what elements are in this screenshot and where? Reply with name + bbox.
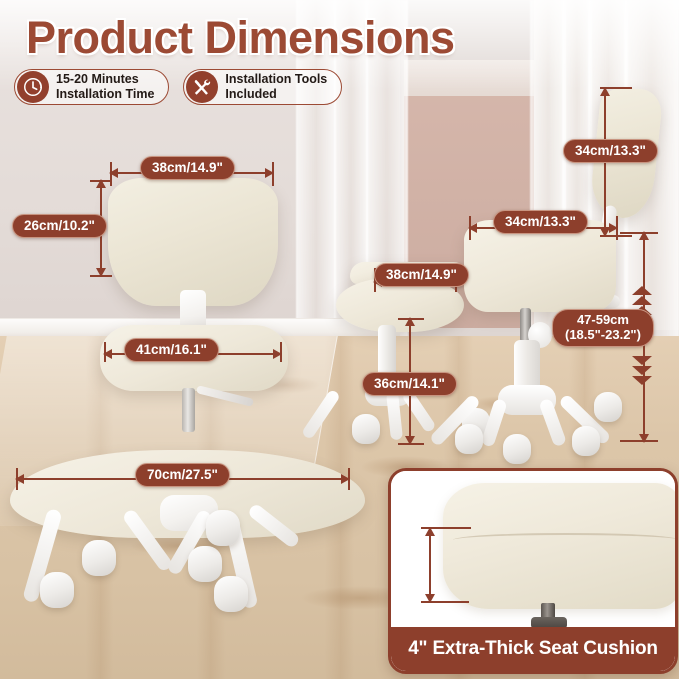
dim-label-backrest-height: 26cm/10.2" bbox=[12, 214, 107, 238]
dim-label-height-range: 47-59cm (18.5"-23.2") bbox=[552, 309, 654, 347]
badge-installation-tools-text: Installation Tools Included bbox=[225, 72, 327, 103]
chevron-down-icon bbox=[632, 356, 652, 365]
caster-wheel-bottom bbox=[214, 576, 248, 612]
badge-installation-time-text: 15-20 Minutes Installation Time bbox=[56, 72, 154, 103]
caster-wheel-bottom bbox=[206, 510, 240, 546]
caster-wheel-bottom bbox=[82, 540, 116, 576]
dim-label-seat-width-mid: 38cm/14.9" bbox=[374, 263, 469, 287]
backrest-cushion bbox=[108, 178, 278, 306]
dim-label-backrest-width: 38cm/14.9" bbox=[140, 156, 235, 180]
product-dimensions-infographic: Product Dimensions 15-20 Minutes Install… bbox=[0, 0, 679, 679]
dim-label-seat-depth: 41cm/16.1" bbox=[124, 338, 219, 362]
inset-cushion-seam bbox=[453, 533, 675, 547]
badge-installation-tools: Installation Tools Included bbox=[183, 69, 342, 105]
page-title: Product Dimensions bbox=[26, 12, 455, 64]
dim-line-cushion-thickness bbox=[429, 528, 431, 602]
chevron-down-icon bbox=[632, 376, 652, 385]
inset-photo bbox=[391, 471, 675, 627]
stool-caster bbox=[352, 414, 380, 444]
caster-wheel-bottom bbox=[40, 572, 74, 608]
dim-label-seat-width-right: 34cm/13.3" bbox=[493, 210, 588, 234]
inset-caption: 4" Extra-Thick Seat Cushion bbox=[391, 627, 675, 671]
gas-lift-cylinder bbox=[182, 388, 195, 432]
dim-label-seat-height-low: 36cm/14.1" bbox=[362, 372, 457, 396]
dim-label-seat-width-bottom: 70cm/27.5" bbox=[135, 463, 230, 487]
height-range-line-1: 47-59cm bbox=[577, 312, 629, 327]
caster-wheel bbox=[594, 392, 622, 422]
badge-line-1: Installation Tools bbox=[225, 72, 327, 86]
seat-cushion-inset-panel: 4" Extra-Thick Seat Cushion bbox=[388, 468, 678, 674]
caster-wheel bbox=[572, 426, 600, 456]
caster-wheel-bottom bbox=[188, 546, 222, 582]
feature-badges: 15-20 Minutes Installation Time Installa… bbox=[14, 69, 342, 105]
badge-line-2: Included bbox=[225, 87, 276, 101]
tools-icon bbox=[186, 71, 218, 103]
caster-wheel bbox=[455, 424, 483, 454]
clock-icon bbox=[17, 71, 49, 103]
caster-wheel bbox=[503, 434, 531, 464]
inset-gas-collar bbox=[531, 617, 567, 627]
chevron-up-icon bbox=[632, 296, 652, 305]
height-range-line-2: (18.5"-23.2") bbox=[565, 327, 641, 342]
dim-label-backrest-height-right: 34cm/13.3" bbox=[563, 139, 658, 163]
badge-line-1: 15-20 Minutes bbox=[56, 72, 139, 86]
seat-cushion-right bbox=[464, 220, 616, 312]
badge-line-2: Installation Time bbox=[56, 87, 154, 101]
chevron-up-icon bbox=[632, 286, 652, 295]
chevron-down-icon bbox=[632, 366, 652, 375]
badge-installation-time: 15-20 Minutes Installation Time bbox=[14, 69, 169, 105]
chevrons-down bbox=[632, 356, 652, 385]
